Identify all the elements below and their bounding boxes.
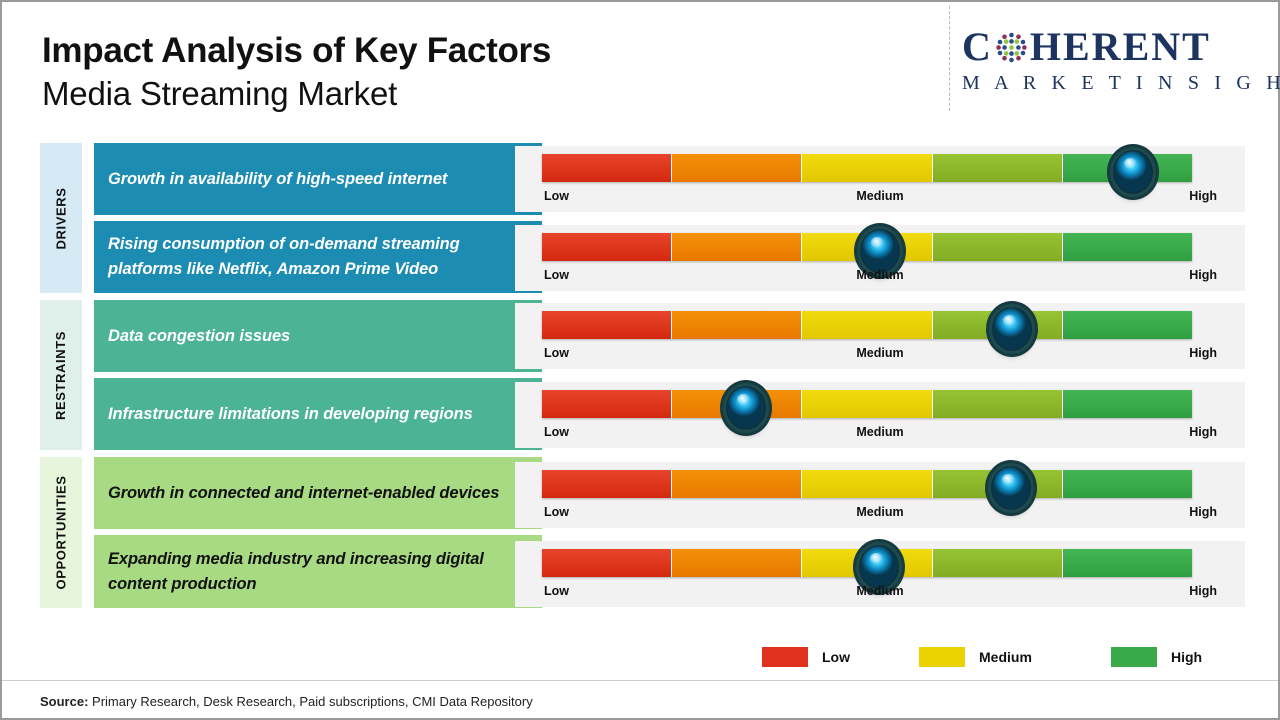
gauge-segment-lowmed [672,470,802,498]
gauge-row-4: Low Medium High [515,382,1245,448]
gauge-segment-lowmed [672,154,802,182]
gauge-row-2: Low Medium High [515,225,1245,291]
factor-text-6: Expanding media industry and increasing … [108,547,528,597]
legend-swatch-medium [919,647,965,667]
gauge-row-6: Low Medium High [515,541,1245,607]
gauge-segment-low [542,154,672,182]
source-text: Primary Research, Desk Research, Paid su… [88,694,532,709]
legend-label-high: High [1171,649,1202,665]
gauge-segment-high [1063,549,1192,577]
logo-divider [949,6,950,111]
scale-label-medium-3: Medium [515,346,1245,360]
gauge-segment-low [542,311,672,339]
gauge-bar-3 [542,311,1192,339]
gauge-segment-high [1063,470,1192,498]
gauge-segment-low [542,549,672,577]
gauge-segment-low [542,470,672,498]
logo-word-rest: HERENT [1030,24,1211,69]
gauge-segment-med [802,154,932,182]
factor-text-5: Growth in connected and internet-enabled… [108,481,499,506]
title-subtitle: Media Streaming Market [42,75,551,114]
factor-text-3: Data congestion issues [108,324,290,349]
factor-box-6[interactable]: Expanding media industry and increasing … [94,535,542,608]
scale-label-high-6: High [1189,584,1217,598]
gauge-segment-low [542,390,672,418]
scale-label-medium-5: Medium [515,505,1245,519]
gauge-segment-medhigh [933,390,1063,418]
factor-text-4: Infrastructure limitations in developing… [108,402,473,427]
impact-marker-1[interactable] [1113,150,1153,194]
source-label: Source: [40,694,88,709]
footer-divider [2,680,1278,681]
gauge-segment-med [802,311,932,339]
gauge-segment-med [802,470,932,498]
legend-swatch-high [1111,647,1157,667]
gauge-bar-1 [542,154,1192,182]
legend-label-low: Low [822,649,850,665]
gauge-bar-4 [542,390,1192,418]
factor-box-2[interactable]: Rising consumption of on-demand streamin… [94,221,542,293]
legend-item-low: Low [762,647,850,667]
gauge-row-5: Low Medium High [515,462,1245,528]
gauge-segment-lowmed [672,311,802,339]
impact-marker-3[interactable] [992,307,1032,351]
factor-box-3[interactable]: Data congestion issues [94,300,542,372]
scale-label-medium-1: Medium [515,189,1245,203]
gauge-row-1: Low Medium High [515,146,1245,212]
scale-label-high-2: High [1189,268,1217,282]
category-column-opportunities: OPPORTUNITIES [40,457,82,608]
gauge-segment-lowmed [672,233,802,261]
impact-marker-6[interactable] [859,545,899,589]
gauge-segment-medhigh [933,233,1063,261]
impact-marker-5[interactable] [991,466,1031,510]
gauge-segment-med [802,390,932,418]
category-label-restraints: RESTRAINTS [54,330,69,419]
gauge-segment-lowmed [672,549,802,577]
scale-label-high-5: High [1189,505,1217,519]
factor-box-1[interactable]: Growth in availability of high-speed int… [94,143,542,215]
slide-root: Impact Analysis of Key Factors Media Str… [0,0,1280,720]
logo-tagline: M A R K E T I N S I G H T S [962,72,1268,95]
scale-label-medium-4: Medium [515,425,1245,439]
factor-text-2: Rising consumption of on-demand streamin… [108,232,528,282]
legend-label-medium: Medium [979,649,1032,665]
scale-label-high-1: High [1189,189,1217,203]
gauge-bar-5 [542,470,1192,498]
gauge-segment-low [542,233,672,261]
legend: Low Medium High [762,647,1192,671]
legend-item-medium: Medium [919,647,1032,667]
legend-swatch-low [762,647,808,667]
gauge-segment-medhigh [933,549,1063,577]
impact-marker-2[interactable] [860,229,900,273]
gauge-segment-high [1063,233,1192,261]
scale-label-high-4: High [1189,425,1217,439]
category-label-drivers: DRIVERS [54,187,69,249]
legend-item-high: High [1111,647,1202,667]
page-title: Impact Analysis of Key Factors Media Str… [42,30,551,114]
globe-dots-icon [994,29,1029,64]
scale-label-medium-6: Medium [515,584,1245,598]
category-label-opportunities: OPPORTUNITIES [54,476,69,590]
impact-matrix: DRIVERS RESTRAINTS OPPORTUNITIES Growth … [40,143,1245,608]
title-main: Impact Analysis of Key Factors [42,30,551,71]
category-column-restraints: RESTRAINTS [40,300,82,450]
gauge-row-3: Low Medium High [515,303,1245,369]
factor-text-1: Growth in availability of high-speed int… [108,167,447,192]
gauge-segment-high [1063,311,1192,339]
logo-wordmark: C [962,24,1268,70]
source-note: Source: Primary Research, Desk Research,… [40,694,533,709]
factor-box-5[interactable]: Growth in connected and internet-enabled… [94,457,542,529]
logo-letter-c: C [962,24,993,70]
brand-logo: C [962,24,1268,102]
impact-marker-4[interactable] [726,386,766,430]
gauge-segment-high [1063,390,1192,418]
category-column-drivers: DRIVERS [40,143,82,293]
gauge-segment-medhigh [933,154,1063,182]
scale-label-high-3: High [1189,346,1217,360]
scale-label-medium-2: Medium [515,268,1245,282]
factor-box-4[interactable]: Infrastructure limitations in developing… [94,378,542,450]
